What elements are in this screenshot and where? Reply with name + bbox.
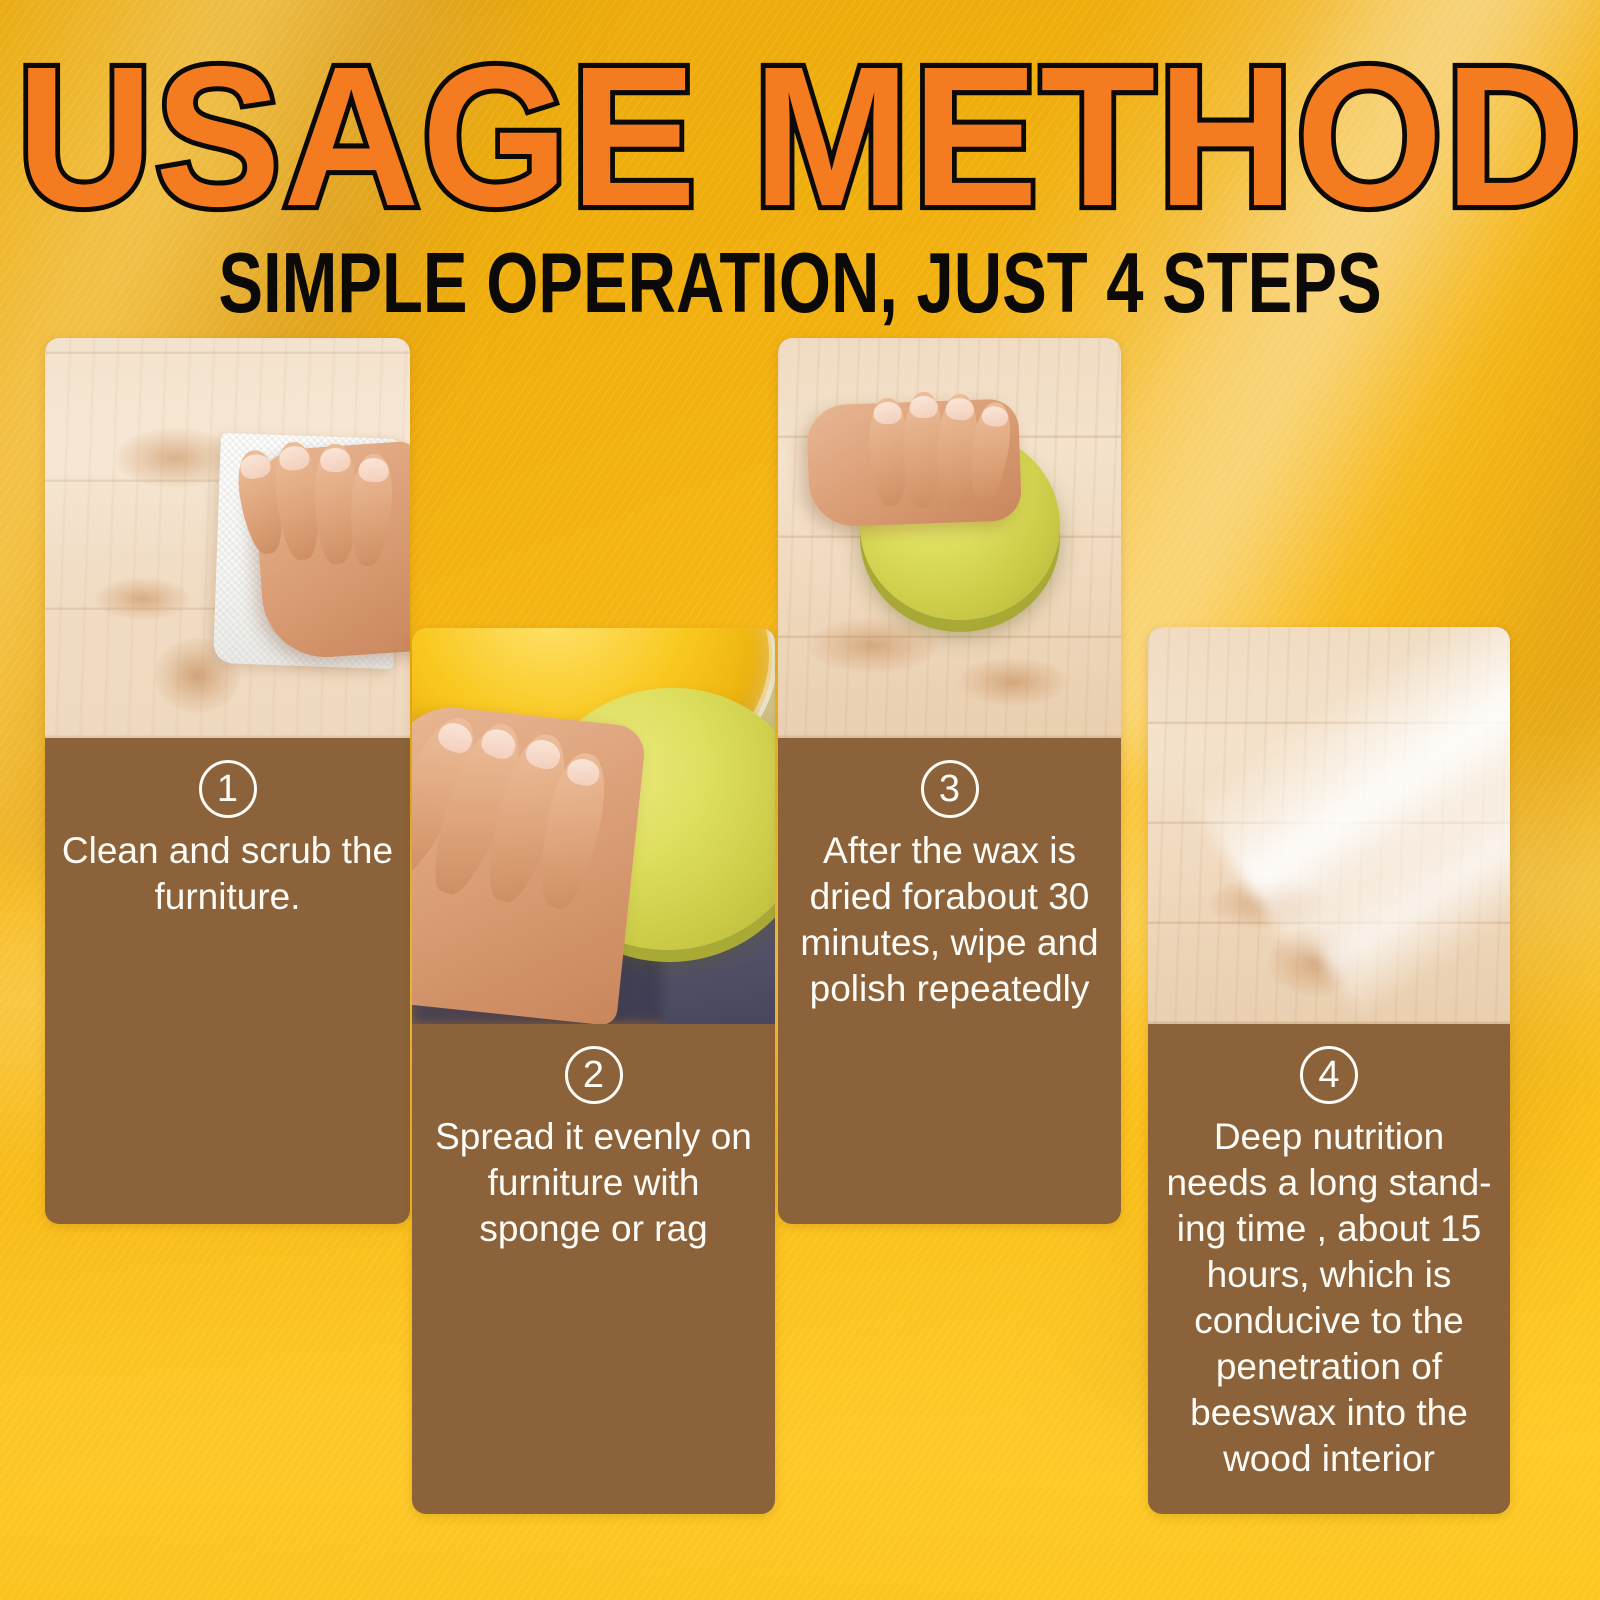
step-4-body: 4 Deep nutrition needs a long stand- ing…	[1148, 1024, 1510, 1508]
step-card-2[interactable]: 2 Spread it evenly on furniture with spo…	[412, 628, 775, 1514]
page-subtitle: SIMPLE OPERATION, JUST 4 STEPS	[56, 240, 1544, 327]
step-number-badge: 4	[1300, 1046, 1358, 1104]
step-number-badge: 1	[199, 760, 257, 818]
wood-knot	[808, 618, 938, 673]
page-title: USAGE METHOD	[0, 36, 1600, 238]
wood-knot	[95, 578, 190, 620]
step-3-body: 3 After the wax is dried forabout 30 min…	[778, 738, 1121, 1038]
step-description: Spread it evenly on furniture with spong…	[428, 1114, 759, 1252]
wood-knot	[958, 658, 1068, 706]
step-card-3[interactable]: 3 After the wax is dried forabout 30 min…	[778, 338, 1121, 1224]
step-2-body: 2 Spread it evenly on furniture with spo…	[412, 1024, 775, 1278]
step-4-photo	[1148, 627, 1510, 1024]
step-2-photo	[412, 628, 775, 1024]
step-description: Deep nutrition needs a long stand- ing t…	[1164, 1114, 1494, 1482]
step-description: After the wax is dried forabout 30 minut…	[794, 828, 1105, 1012]
step-1-body: 1 Clean and scrub the furniture.	[45, 738, 410, 946]
header: USAGE METHOD SIMPLE OPERATION, JUST 4 ST…	[0, 0, 1600, 314]
step-card-1[interactable]: 1 Clean and scrub the furniture.	[45, 338, 410, 1224]
step-number-badge: 3	[921, 760, 979, 818]
step-description: Clean and scrub the furniture.	[61, 828, 394, 920]
step-3-photo	[778, 338, 1121, 738]
step-number-badge: 2	[565, 1046, 623, 1104]
wood-knot	[115, 428, 235, 488]
step-1-photo	[45, 338, 410, 738]
step-card-4[interactable]: 4 Deep nutrition needs a long stand- ing…	[1148, 627, 1510, 1514]
